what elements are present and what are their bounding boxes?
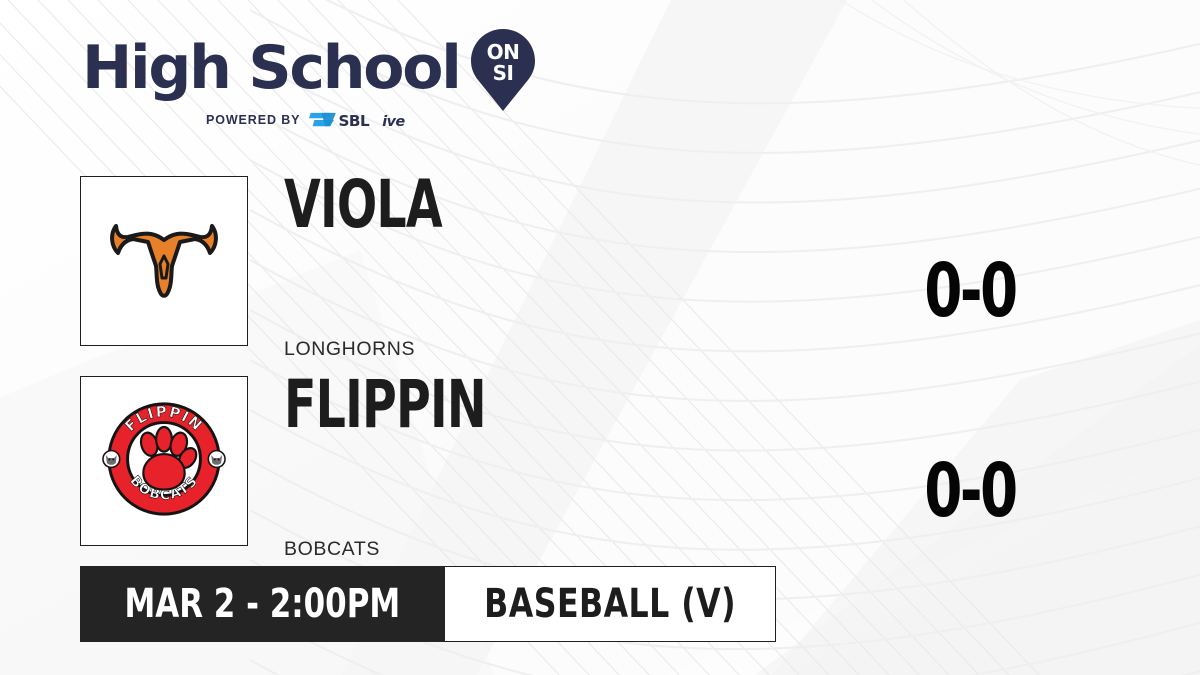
game-sport-block: BASEBALL (V) <box>445 566 776 642</box>
team-logo-box: FLIPPIN BOBCATS <box>80 376 248 546</box>
team-name: FLIPPIN <box>284 372 486 438</box>
on-si-pin-icon: ON SI <box>471 29 535 111</box>
game-datetime-block: MAR 2 - 2:00PM <box>80 566 445 642</box>
game-meta-bar: MAR 2 - 2:00PM BASEBALL (V) <box>80 566 776 642</box>
brand-header: High School ON SI POWERED BY SBL ive <box>82 34 502 134</box>
team-score: 0-0 <box>896 454 1044 528</box>
game-sport: BASEBALL (V) <box>484 584 736 624</box>
team-logo-box <box>80 176 248 346</box>
svg-text:SI: SI <box>492 61 513 85</box>
brand-wordmark: High School <box>82 38 460 98</box>
bobcats-circle-logo-icon: FLIPPIN BOBCATS <box>100 395 228 528</box>
sblive-logo: SBL ive <box>309 110 427 130</box>
game-datetime: MAR 2 - 2:00PM <box>124 584 400 624</box>
team-mascot: LONGHORNS <box>284 338 415 361</box>
longhorn-logo-icon <box>104 204 224 319</box>
scorecard-graphic: High School ON SI POWERED BY SBL ive <box>0 0 1200 675</box>
svg-text:ive: ive <box>383 114 406 130</box>
team-score: 0-0 <box>896 254 1044 328</box>
svg-text:SBL: SBL <box>339 112 370 130</box>
team-name: VIOLA <box>284 172 442 238</box>
team-mascot: BOBCATS <box>284 538 380 561</box>
powered-by-label: POWERED BY <box>206 113 300 127</box>
